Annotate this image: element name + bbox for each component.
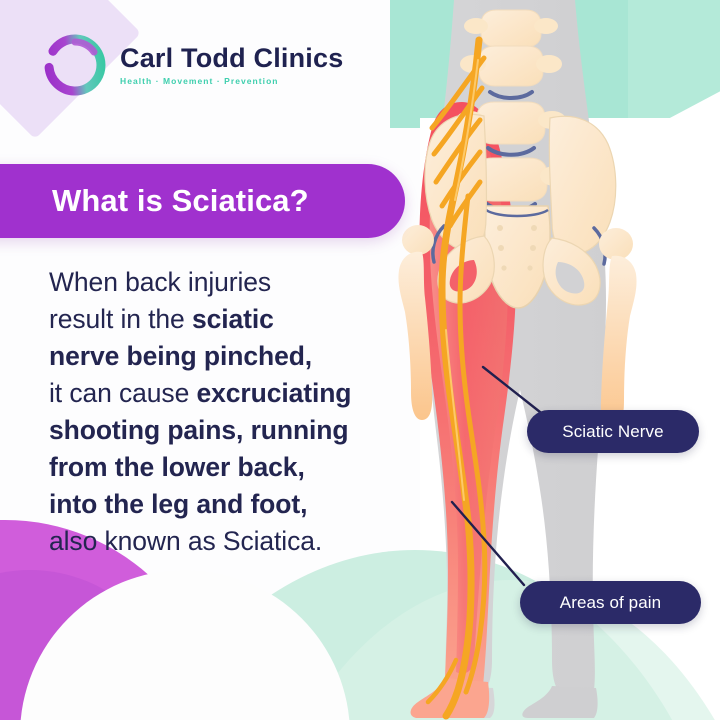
callout-areas-of-pain-label: Areas of pain	[560, 593, 661, 613]
callout-sciatic-nerve[interactable]: Sciatic Nerve	[527, 410, 699, 453]
brand-logo[interactable]: Carl Todd Clinics Health · Movement · Pr…	[44, 34, 343, 96]
callout-areas-of-pain[interactable]: Areas of pain	[520, 581, 701, 624]
callout-sciatic-nerve-label: Sciatic Nerve	[562, 422, 663, 442]
body-line-1: result in the sciatic	[49, 301, 439, 338]
brand-tagline: Health · Movement · Prevention	[120, 77, 343, 86]
body-line-0: When back injuries	[49, 264, 439, 301]
body-line-4: shooting pains, running	[49, 412, 439, 449]
body-line-5: from the lower back,	[49, 449, 439, 486]
infographic-canvas: Sciatic Nerve Areas of pain Carl Todd Cl…	[0, 0, 720, 720]
body-line-3: it can cause excruciating	[49, 375, 439, 412]
body-paragraph: When back injuriesresult in the sciaticn…	[49, 264, 439, 560]
body-line-2: nerve being pinched,	[49, 338, 439, 375]
body-line-7: also known as Sciatica.	[49, 523, 439, 560]
title-banner: What is Sciatica?	[0, 164, 405, 238]
body-line-6: into the leg and foot,	[49, 486, 439, 523]
brand-name: Carl Todd Clinics	[120, 45, 343, 72]
brand-logo-text: Carl Todd Clinics Health · Movement · Pr…	[120, 45, 343, 86]
circle-ring-logo-icon	[44, 34, 106, 96]
page-title: What is Sciatica?	[52, 183, 309, 219]
